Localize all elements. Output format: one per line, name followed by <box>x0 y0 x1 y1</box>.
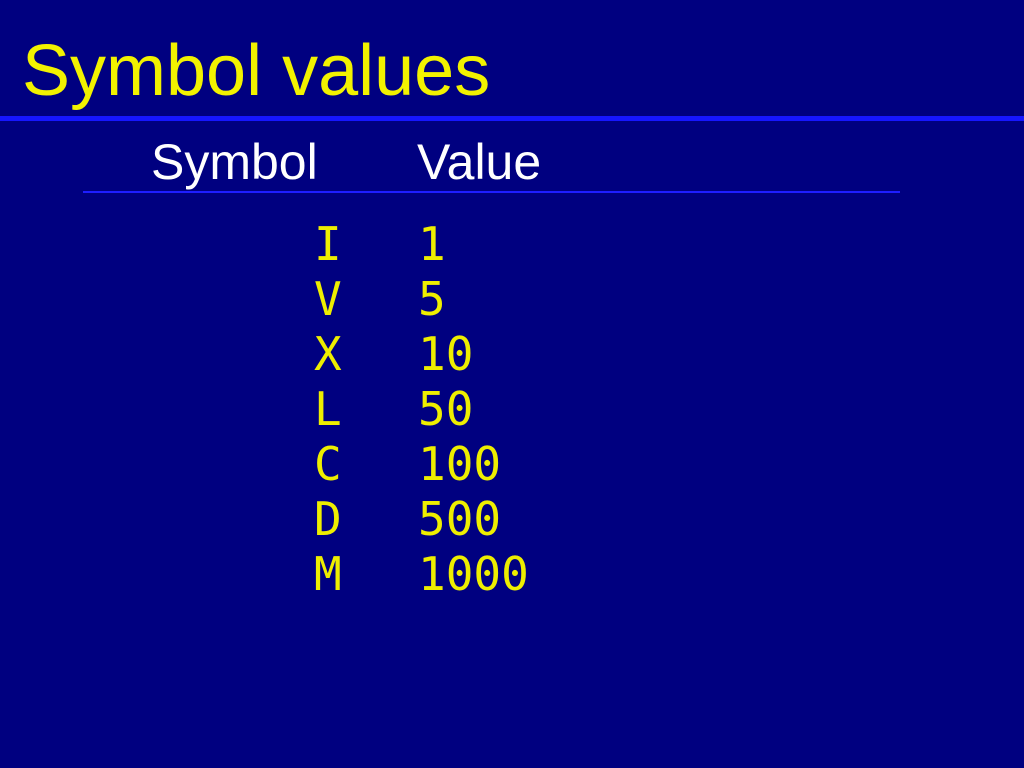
header-divider <box>83 191 900 193</box>
cell-symbol: D <box>314 492 342 547</box>
slide-canvas: Symbol values Symbol Value I 1 V 5 X 10 … <box>0 0 1024 768</box>
table-row: M 1000 <box>0 547 1024 602</box>
table-body: I 1 V 5 X 10 L 50 C 100 D 500 M 1000 <box>0 217 1024 602</box>
cell-symbol: X <box>314 327 342 382</box>
cell-value: 1 <box>418 217 446 272</box>
cell-value: 1000 <box>418 547 529 602</box>
table-row: D 500 <box>0 492 1024 547</box>
table-row: C 100 <box>0 437 1024 492</box>
cell-symbol: C <box>314 437 342 492</box>
cell-value: 500 <box>418 492 501 547</box>
cell-value: 50 <box>418 382 473 437</box>
cell-symbol: I <box>314 217 342 272</box>
cell-value: 100 <box>418 437 501 492</box>
cell-symbol: V <box>314 272 342 327</box>
title-divider <box>0 116 1024 121</box>
page-title: Symbol values <box>22 33 490 109</box>
table-row: V 5 <box>0 272 1024 327</box>
table-row: L 50 <box>0 382 1024 437</box>
cell-value: 10 <box>418 327 473 382</box>
column-header-value: Value <box>417 133 541 191</box>
table-header-row: Symbol Value <box>0 133 1024 191</box>
cell-value: 5 <box>418 272 446 327</box>
cell-symbol: L <box>314 382 342 437</box>
column-header-symbol: Symbol <box>151 133 318 191</box>
table-row: I 1 <box>0 217 1024 272</box>
table-row: X 10 <box>0 327 1024 382</box>
cell-symbol: M <box>314 547 342 602</box>
